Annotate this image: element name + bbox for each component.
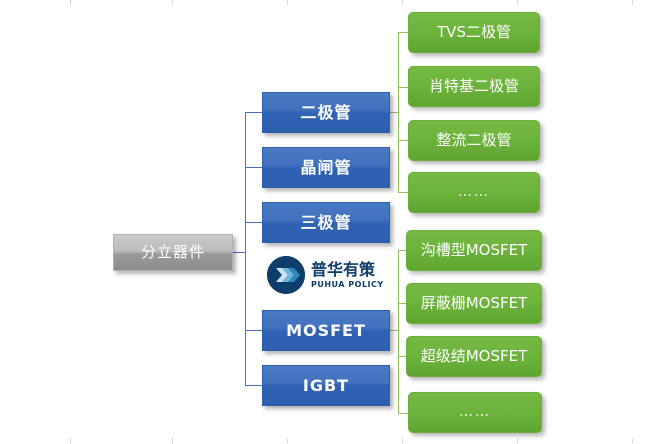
chevron-logo-icon: [267, 256, 305, 294]
node-branch-thyristor-label: 晶闸管: [300, 159, 351, 177]
watermark-name-en: PUHUA POLICY: [311, 281, 384, 289]
node-root-discrete-devices[interactable]: 分立器件: [113, 234, 233, 271]
ruler-tick: [70, 0, 71, 5]
connector-branch-igbt: [245, 385, 263, 386]
node-diode-child-schottky-label: 肖特基二极管: [429, 78, 519, 95]
node-branch-mosfet-label: MOSFET: [286, 322, 366, 340]
node-branch-igbt[interactable]: IGBT: [262, 365, 390, 406]
ruler-tick: [632, 438, 633, 443]
connector-trunk-diode-children: [398, 32, 399, 192]
node-branch-thyristor[interactable]: 晶闸管: [262, 147, 390, 188]
node-diode-child-schottky[interactable]: 肖特基二极管: [408, 66, 540, 107]
node-mosfet-child-superjunction-label: 超级结MOSFET: [421, 348, 528, 365]
ruler-tick: [172, 438, 173, 443]
ruler-tick: [172, 0, 173, 5]
ruler-tick: [402, 438, 403, 443]
watermark-text: 普华有策 PUHUA POLICY: [311, 262, 384, 289]
node-branch-transistor-label: 三极管: [300, 214, 351, 232]
node-diode-child-more[interactable]: ……: [408, 172, 540, 213]
node-mosfet-child-trench[interactable]: 沟槽型MOSFET: [406, 230, 542, 271]
node-branch-diode[interactable]: 二极管: [262, 92, 390, 133]
node-diode-child-rectifier-label: 整流二极管: [436, 132, 511, 149]
node-mosfet-child-shielded-gate[interactable]: 屏蔽栅MOSFET: [406, 283, 542, 324]
ruler-tick: [517, 0, 518, 5]
node-mosfet-child-shielded-gate-label: 屏蔽栅MOSFET: [421, 295, 528, 312]
watermark-logo: 普华有策 PUHUA POLICY: [267, 256, 384, 294]
ruler-tick: [70, 438, 71, 443]
node-diode-child-rectifier[interactable]: 整流二极管: [408, 120, 540, 161]
node-branch-igbt-label: IGBT: [303, 377, 349, 395]
ruler-tick: [517, 438, 518, 443]
node-mosfet-child-more[interactable]: ……: [408, 392, 542, 433]
node-branch-diode-label: 二极管: [300, 104, 351, 122]
watermark-name-cn: 普华有策: [311, 262, 384, 278]
node-branch-mosfet[interactable]: MOSFET: [262, 310, 390, 351]
node-mosfet-child-superjunction[interactable]: 超级结MOSFET: [406, 336, 542, 377]
node-branch-transistor[interactable]: 三极管: [262, 202, 390, 243]
connector-trunk-mosfet-children: [398, 250, 399, 413]
node-diode-child-tvs[interactable]: TVS二极管: [408, 12, 540, 53]
connector-branch-thyristor: [245, 167, 263, 168]
node-mosfet-child-trench-label: 沟槽型MOSFET: [421, 242, 528, 259]
node-diode-child-tvs-label: TVS二极管: [437, 24, 511, 41]
node-mosfet-child-more-label: ……: [459, 405, 491, 420]
ruler-tick: [287, 438, 288, 443]
ruler-tick: [287, 0, 288, 5]
ruler-tick: [402, 0, 403, 5]
ruler-tick: [632, 0, 633, 5]
node-root-label: 分立器件: [141, 244, 205, 261]
connector-branch-diode: [245, 112, 263, 113]
connector-trunk-primary: [245, 112, 246, 385]
connector-branch-transistor: [245, 222, 263, 223]
connector-branch-mosfet: [245, 330, 263, 331]
node-diode-child-more-label: ……: [458, 185, 490, 200]
diagram-canvas: 分立器件 二极管 晶闸管 三极管 MOSFET IGBT TVS二极管 肖特基二…: [0, 0, 645, 444]
